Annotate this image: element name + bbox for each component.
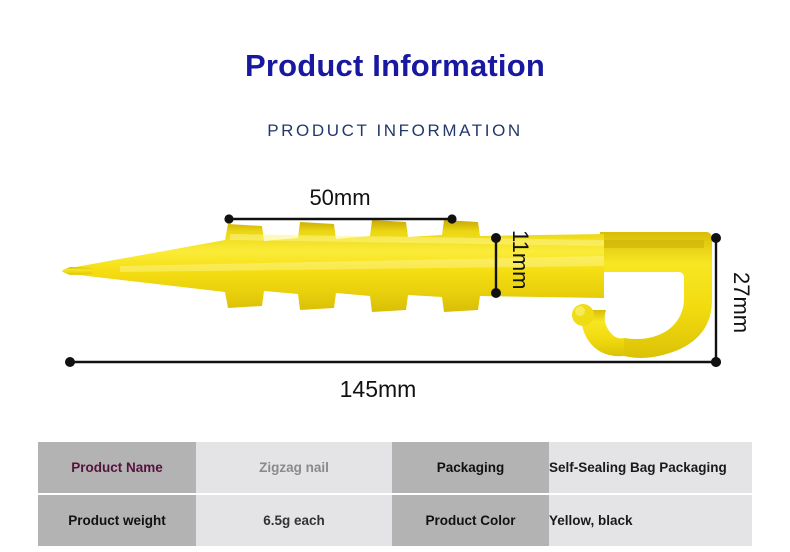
spec-label-product-color: Product Color: [392, 495, 549, 546]
spec-label-packaging: Packaging: [392, 442, 549, 493]
spec-value-product-color: Yellow, black: [549, 495, 752, 546]
dimension-27mm: 27mm: [711, 233, 754, 367]
spec-value-product-weight: 6.5g each: [196, 495, 392, 546]
spec-label-product-weight: Product weight: [38, 495, 196, 546]
spec-label-product-name: Product Name: [38, 442, 196, 493]
dimension-145mm-label: 145mm: [340, 376, 417, 402]
hanging-hole: [645, 288, 678, 327]
nail-tip-shape: [62, 267, 92, 275]
dimension-27mm-label: 27mm: [729, 272, 754, 333]
dimension-145mm: 145mm: [65, 357, 721, 402]
head-ridge-line: [604, 240, 704, 248]
spec-value-packaging: Self-Sealing Bag Packaging: [549, 442, 752, 493]
spec-value-product-name: Zigzag nail: [196, 442, 392, 493]
hook-tip-highlight: [575, 306, 585, 316]
nail-body-group: [62, 220, 712, 358]
page-title: Product Information: [0, 47, 790, 85]
product-spec-table: Product Name Zigzag nail Packaging Self-…: [38, 440, 752, 548]
table-row: Product Name Zigzag nail Packaging Self-…: [38, 442, 752, 493]
page-subtitle: PRODUCT INFORMATION: [0, 120, 790, 142]
dimension-11mm-label: 11mm: [508, 230, 533, 290]
product-illustration: 50mm 11mm 27mm 145mm: [0, 160, 790, 410]
dimension-50mm: 50mm: [224, 185, 456, 224]
table-row: Product weight 6.5g each Product Color Y…: [38, 495, 752, 546]
dimension-50mm-label: 50mm: [309, 185, 370, 210]
